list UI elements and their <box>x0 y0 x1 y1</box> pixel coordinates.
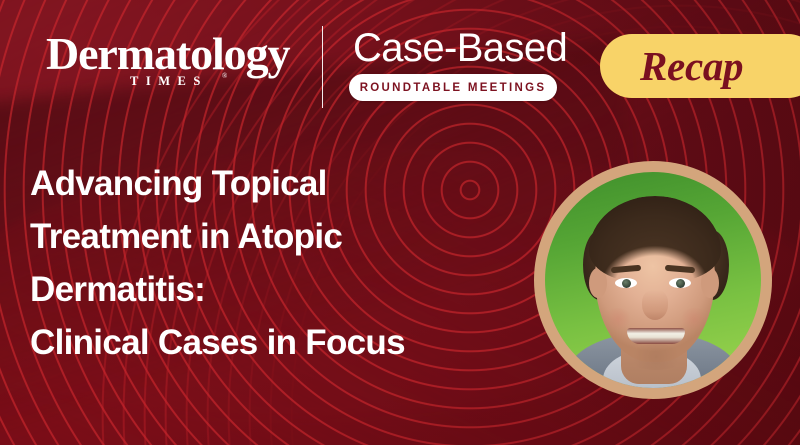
brand-divider <box>322 26 323 108</box>
brand-subname: TIMES <box>130 74 208 89</box>
program-title: Case-Based <box>353 25 567 71</box>
case-based-logo[interactable]: Case-Based ROUNDTABLE MEETINGS <box>349 25 561 103</box>
promo-banner: Dermatology TIMES ® Case-Based ROUNDTABL… <box>0 0 800 445</box>
headline-line-3: Dermatitis: <box>30 263 530 316</box>
portrait-pupil-left <box>622 279 631 288</box>
portrait-eye-right <box>669 278 691 288</box>
roundtable-meetings-pill: ROUNDTABLE MEETINGS <box>349 74 557 101</box>
page-title: Advancing Topical Treatment in Atopic De… <box>30 157 530 369</box>
speaker-portrait-ring <box>534 161 772 399</box>
portrait-cheek-left <box>603 308 633 330</box>
roundtable-meetings-label: ROUNDTABLE MEETINGS <box>360 82 547 94</box>
portrait-pupil-right <box>676 279 685 288</box>
portrait-eye-left <box>615 278 637 288</box>
speaker-portrait-photo <box>545 172 761 388</box>
portrait-nose <box>642 290 668 320</box>
recap-badge-label: Recap <box>640 44 743 88</box>
dermatology-times-logo[interactable]: Dermatology TIMES ® <box>46 28 308 102</box>
portrait-hair <box>589 196 721 282</box>
banner-header: Dermatology TIMES ® Case-Based ROUNDTABL… <box>0 0 800 128</box>
portrait-mouth <box>627 328 685 344</box>
headline-line-4: Clinical Cases in Focus <box>30 316 530 369</box>
brand-name: Dermatology <box>46 28 308 80</box>
headline-line-2: Treatment in Atopic <box>30 210 530 263</box>
portrait-chin <box>627 344 685 370</box>
trademark-icon: ® <box>222 72 227 80</box>
recap-badge: Recap <box>600 34 800 98</box>
portrait-cheek-right <box>679 308 709 330</box>
headline-line-1: Advancing Topical <box>30 157 530 210</box>
